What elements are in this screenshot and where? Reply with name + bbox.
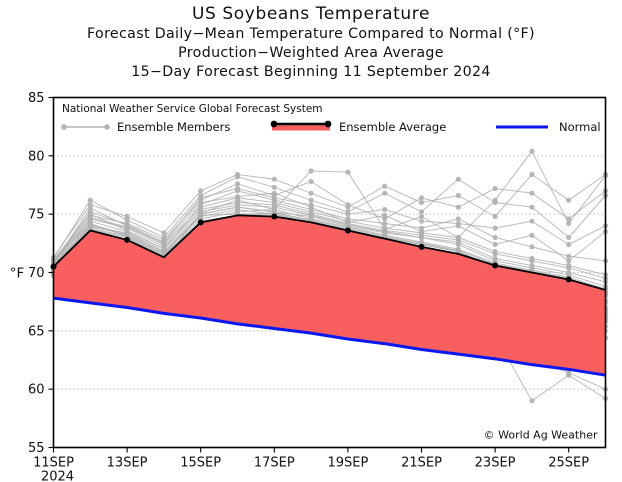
chart-legend: National Weather Service Global Forecast…	[61, 103, 600, 134]
y-tick-label: 65	[28, 324, 45, 339]
x-tick-label: 21SEP	[401, 456, 442, 471]
y-tick-label: 60	[28, 383, 45, 398]
legend-label-normal: Normal	[559, 120, 601, 134]
y-tick-label: 85	[28, 91, 45, 106]
y-axis-label: °F	[10, 266, 25, 282]
legend-label-ensemble-members: Ensemble Members	[117, 120, 230, 134]
legend-label-ensemble-average: Ensemble Average	[339, 120, 446, 134]
x-tick-label: 19SEP	[327, 456, 368, 471]
y-tick-label: 70	[28, 266, 45, 281]
y-tick-label: 55	[28, 441, 45, 456]
x-tick-label: 15SEP	[180, 456, 221, 471]
chart-container: US Soybeans Temperature Forecast Daily−M…	[0, 0, 622, 482]
y-tick-label: 80	[28, 149, 45, 164]
legend-header: National Weather Service Global Forecast…	[62, 103, 323, 115]
x-tick-label: 25SEP	[548, 456, 589, 471]
x-tick-label: 11SEP	[33, 456, 74, 471]
x-tick-label: 23SEP	[475, 456, 516, 471]
x-axis-year-label: 2024	[41, 470, 74, 482]
copyright-credit: © World Ag Weather	[484, 429, 598, 442]
chart-plot: © World Ag Weather 55606570758085°F11SEP…	[0, 0, 622, 482]
x-tick-label: 13SEP	[107, 456, 148, 471]
y-tick-label: 75	[28, 208, 45, 223]
x-tick-label: 17SEP	[254, 456, 295, 471]
